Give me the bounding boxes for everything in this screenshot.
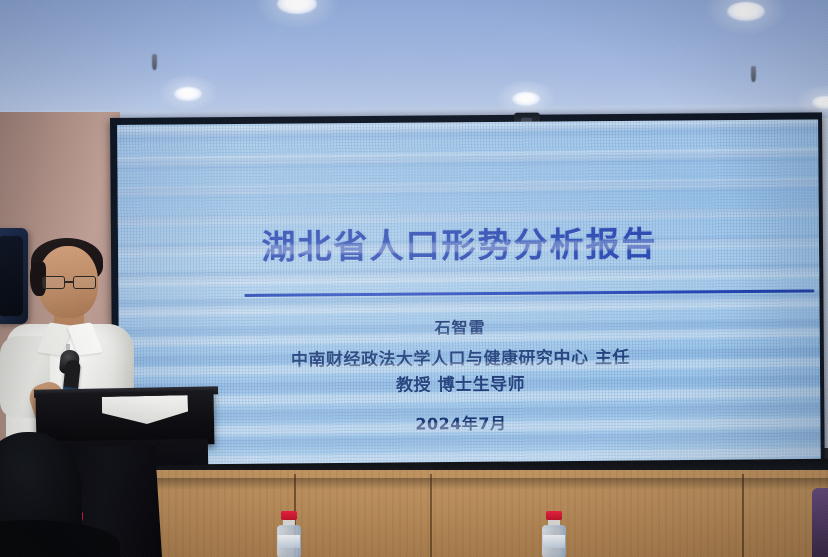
downlight-4-icon [512,92,540,106]
presentation-slide: 湖北省人口形势分析报告 石智雷 中南财经政法大学人口与健康研究中心 主任 教授 … [117,119,821,468]
bottle-label [543,535,565,548]
water-bottle-right [541,511,567,557]
glasses-lens-left [42,276,65,289]
slide-date: 2024年7月 [119,408,802,437]
water-bottle-left [276,511,302,557]
presentation-photo-scene: 湖北省人口形势分析报告 石智雷 中南财经政法大学人口与健康研究中心 主任 教授 … [0,0,828,557]
foreground-object-right [812,488,828,557]
slide-presenter-name: 石智雷 [119,312,802,341]
slide-title: 湖北省人口形势分析报告 [118,216,801,270]
led-screen: 湖北省人口形势分析报告 石智雷 中南财经政法大学人口与健康研究中心 主任 教授 … [117,119,821,468]
wood-seam-2 [430,474,432,557]
slide-divider-rule [244,289,814,296]
bottle-cap [546,511,562,520]
glasses-lens-right [73,276,96,289]
bottle-label [278,535,300,548]
glasses-icon [40,276,98,289]
slide-affiliation-line2: 教授 博士生导师 [119,368,802,398]
sprinkler-2-icon [751,66,756,82]
wood-seam-3 [742,474,744,557]
led-screen-bezel: 湖北省人口形势分析报告 石智雷 中南财经政法大学人口与健康研究中心 主任 教授 … [110,112,825,478]
downlight-3-icon [174,87,202,101]
glasses-bridge [65,281,73,283]
downlight-2-icon [727,2,765,21]
bottle-cap [281,511,297,520]
sprinkler-1-icon [152,54,157,70]
